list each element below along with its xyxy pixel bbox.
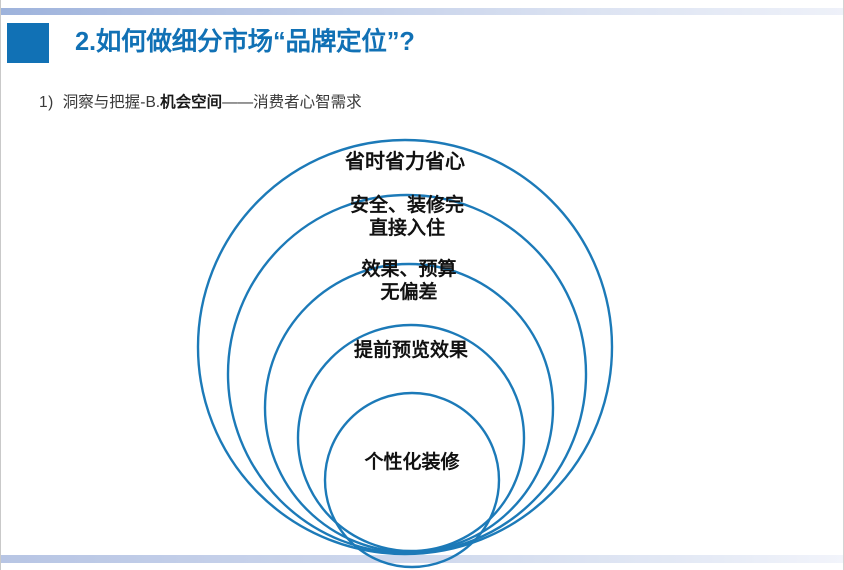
ring-label-line: 提前预览效果 [354, 338, 468, 361]
ring-circle-5 [325, 393, 499, 567]
ring-label-line: 个性化装修 [363, 450, 460, 473]
ring-label-line: 效果、预算 [361, 257, 456, 280]
ring-label-line: 直接入住 [369, 216, 445, 239]
ring-circle-3 [265, 264, 553, 552]
ring-label-3: 效果、预算无偏差 [361, 257, 456, 303]
slide-canvas: 2.如何做细分市场“品牌定位”? 1)洞察与把握-B.机会空间——消费者心智需求… [0, 0, 844, 570]
ring-label-1: 省时省力省心 [344, 150, 465, 173]
ring-label-line: 省时省力省心 [344, 150, 465, 173]
ring-label-line: 安全、装修完 [350, 193, 464, 216]
ring-label-4: 提前预览效果 [354, 338, 468, 361]
ring-label-5: 个性化装修 [363, 450, 460, 473]
ring-label-line: 无偏差 [380, 280, 437, 303]
ring-circle-2 [228, 195, 586, 553]
ring-label-2: 安全、装修完直接入住 [350, 193, 464, 239]
concentric-circles-diagram: 省时省力省心安全、装修完直接入住效果、预算无偏差提前预览效果个性化装修 [1, 0, 844, 570]
